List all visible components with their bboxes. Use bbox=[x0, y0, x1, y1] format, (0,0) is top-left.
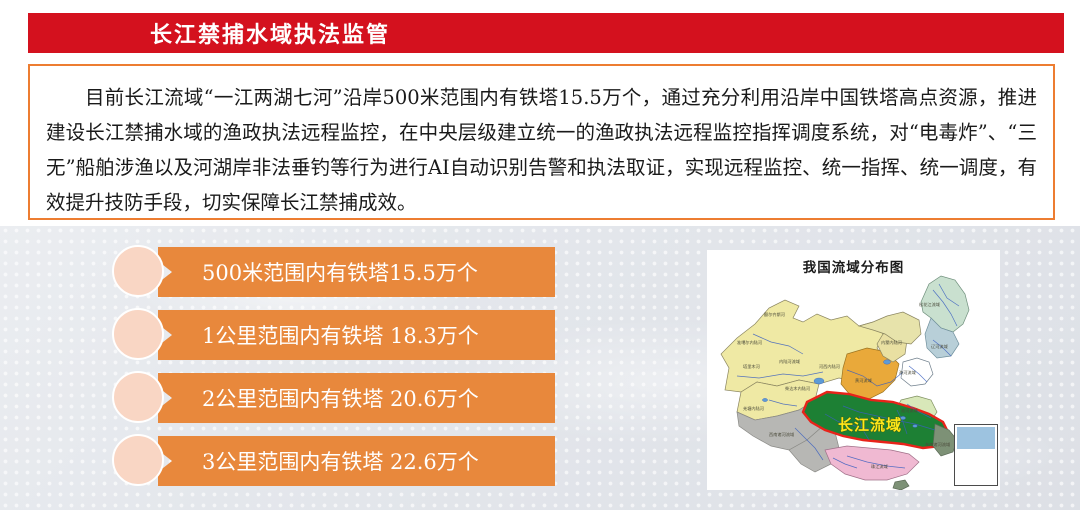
list-item[interactable]: 500米范围内有铁塔15.5万个 bbox=[112, 247, 555, 297]
stat-bullet-circle bbox=[112, 308, 164, 360]
stat-bar: 500米范围内有铁塔15.5万个 bbox=[158, 247, 555, 297]
inset-sea-area bbox=[957, 427, 995, 449]
description-paragraph: 目前长江流域“一江两湖七河”沿岸500米范围内有铁塔15.5万个，通过充分利用沿… bbox=[46, 80, 1037, 220]
stat-bullet-circle bbox=[112, 434, 164, 486]
basin-label: 柴达木内陆河 bbox=[785, 385, 811, 392]
statistics-list: 500米范围内有铁塔15.5万个 1公里范围内有铁塔 18.3万个 2公里范围内… bbox=[112, 247, 555, 499]
river-basin-map: 我国流域分布图 bbox=[707, 250, 1000, 490]
basin-label: 淮河流域 bbox=[901, 407, 919, 414]
basin-label: 辽河流域 bbox=[931, 343, 949, 350]
list-item[interactable]: 2公里范围内有铁塔 20.6万个 bbox=[112, 373, 555, 423]
basin-label: 内蒙内陆河 bbox=[881, 339, 903, 346]
page-title: 长江禁捕水域执法监管 bbox=[150, 17, 390, 49]
slide-canvas: 长江禁捕水域执法监管 目前长江流域“一江两湖七河”沿岸500米范围内有铁塔15.… bbox=[0, 0, 1080, 510]
basin-label: 羌塘内陆河 bbox=[743, 405, 765, 412]
basin-label: 额尔齐斯河 bbox=[764, 311, 786, 318]
title-banner: 长江禁捕水域执法监管 bbox=[28, 13, 1064, 53]
stat-label: 1公里范围内有铁塔 18.3万个 bbox=[202, 320, 479, 350]
basin-label: 准噶尔内陆河 bbox=[737, 339, 763, 346]
basin-label: 黄河流域 bbox=[855, 377, 873, 384]
map-inset-box bbox=[954, 424, 998, 486]
basin-label: 东南诸河流域 bbox=[925, 441, 951, 448]
list-item[interactable]: 3公里范围内有铁塔 22.6万个 bbox=[112, 436, 555, 486]
description-box: 目前长江流域“一江两湖七河”沿岸500米范围内有铁塔15.5万个，通过充分利用沿… bbox=[28, 64, 1055, 220]
basin-label: 西南诸河流域 bbox=[769, 431, 795, 438]
basin-label: 塔里木河 bbox=[743, 363, 761, 370]
stat-label: 500米范围内有铁塔15.5万个 bbox=[202, 257, 478, 287]
map-title: 我国流域分布图 bbox=[707, 256, 1000, 276]
basin-label: 内陆河流域 bbox=[779, 358, 801, 365]
stat-bar: 1公里范围内有铁塔 18.3万个 bbox=[158, 310, 555, 360]
stat-bar: 2公里范围内有铁塔 20.6万个 bbox=[158, 373, 555, 423]
yangtze-basin-label: 长江流域 bbox=[838, 416, 902, 434]
basin-label: 河西内陆河 bbox=[819, 363, 841, 370]
basin-label: 珠江流域 bbox=[871, 463, 889, 470]
stat-bullet-circle bbox=[112, 245, 164, 297]
stat-bullet-circle bbox=[112, 371, 164, 423]
stat-bar: 3公里范围内有铁塔 22.6万个 bbox=[158, 436, 555, 486]
stat-label: 2公里范围内有铁塔 20.6万个 bbox=[202, 383, 479, 413]
basin-label: 海河流域 bbox=[899, 369, 917, 376]
list-item[interactable]: 1公里范围内有铁塔 18.3万个 bbox=[112, 310, 555, 360]
stat-label: 3公里范围内有铁塔 22.6万个 bbox=[202, 446, 479, 476]
basin-label: 松花江流域 bbox=[919, 301, 941, 308]
